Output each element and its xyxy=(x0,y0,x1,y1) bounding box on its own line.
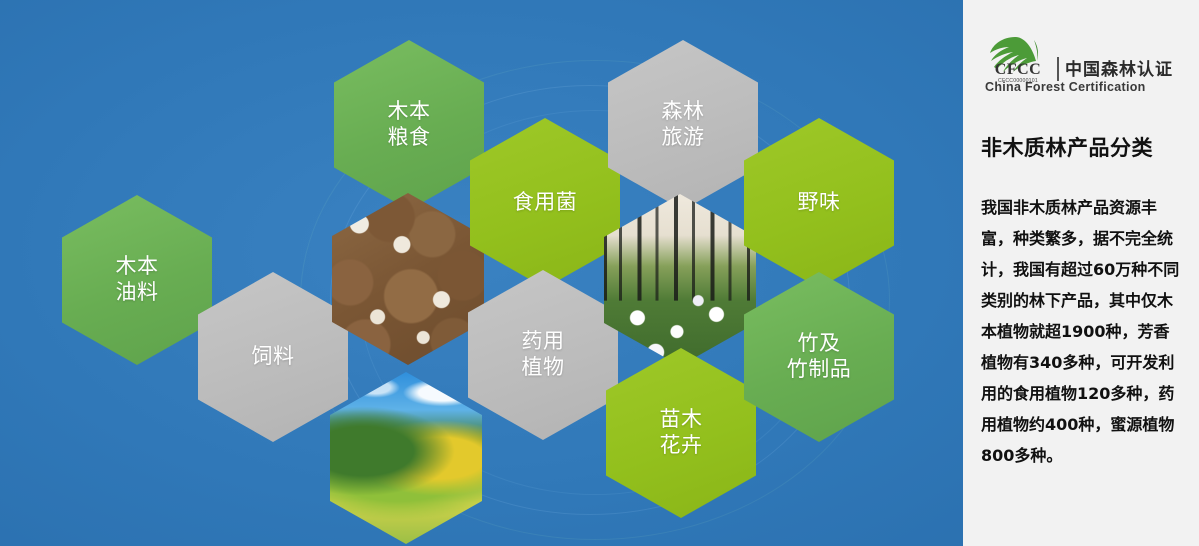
page-title: 非木质林产品分类 xyxy=(981,132,1186,162)
hex-forest-tourism[interactable]: 森林 旅游 xyxy=(608,40,758,210)
hex-game-meat-label: 野味 xyxy=(798,190,841,216)
logo-acronym: CFCC xyxy=(987,61,1049,79)
hex-medicinal-plants-label: 药用 植物 xyxy=(522,329,565,380)
hex-woody-grain-label: 木本 粮食 xyxy=(388,99,431,150)
hex-forest-tourism-label: 森林 旅游 xyxy=(662,99,705,150)
hex-landscape-photo[interactable] xyxy=(330,372,482,544)
logo-english-name: China Forest Certification xyxy=(985,80,1185,94)
hexagon-diagram-stage: 木本 油料木本 粮食饲料食用菌森林 旅游药用 植物野味苗木 花卉竹及 竹制品 xyxy=(0,0,963,546)
hex-seedling-flowers[interactable]: 苗木 花卉 xyxy=(606,348,756,518)
hex-woody-grain[interactable]: 木本 粮食 xyxy=(334,40,484,210)
hex-bamboo-products[interactable]: 竹及 竹制品 xyxy=(744,272,894,442)
hex-feed-label: 饲料 xyxy=(252,344,295,370)
hex-seedling-flowers-label: 苗木 花卉 xyxy=(660,407,703,458)
hex-edible-fungus[interactable]: 食用菌 xyxy=(470,118,620,288)
hex-mushroom-photo[interactable] xyxy=(332,193,484,365)
hex-bamboo-products-label: 竹及 竹制品 xyxy=(787,331,852,382)
cfcc-logo: CFCC CFCC00000101 中国森林认证 China Forest Ce… xyxy=(981,33,1181,95)
panel-body-text: 我国非木质林产品资源丰富，种类繁多，据不完全统计，我国有超过60万种不同类别的林… xyxy=(981,192,1181,471)
hex-forest-flowers[interactable] xyxy=(604,194,756,366)
slide-root: 木本 油料木本 粮食饲料食用菌森林 旅游药用 植物野味苗木 花卉竹及 竹制品 C… xyxy=(0,0,1199,546)
info-panel: CFCC CFCC00000101 中国森林认证 China Forest Ce… xyxy=(963,0,1199,546)
hex-feed[interactable]: 饲料 xyxy=(198,272,348,442)
hex-woody-oil[interactable]: 木本 油料 xyxy=(62,195,212,365)
hex-business-arrows[interactable] xyxy=(198,118,346,286)
logo-divider xyxy=(1057,57,1059,81)
logo-chinese-name: 中国森林认证 xyxy=(1065,55,1173,80)
hex-medicinal-plants[interactable]: 药用 植物 xyxy=(468,270,618,440)
hex-game-meat[interactable]: 野味 xyxy=(744,118,894,288)
hex-edible-fungus-label: 食用菌 xyxy=(513,190,578,216)
hex-woody-oil-label: 木本 油料 xyxy=(116,254,159,305)
